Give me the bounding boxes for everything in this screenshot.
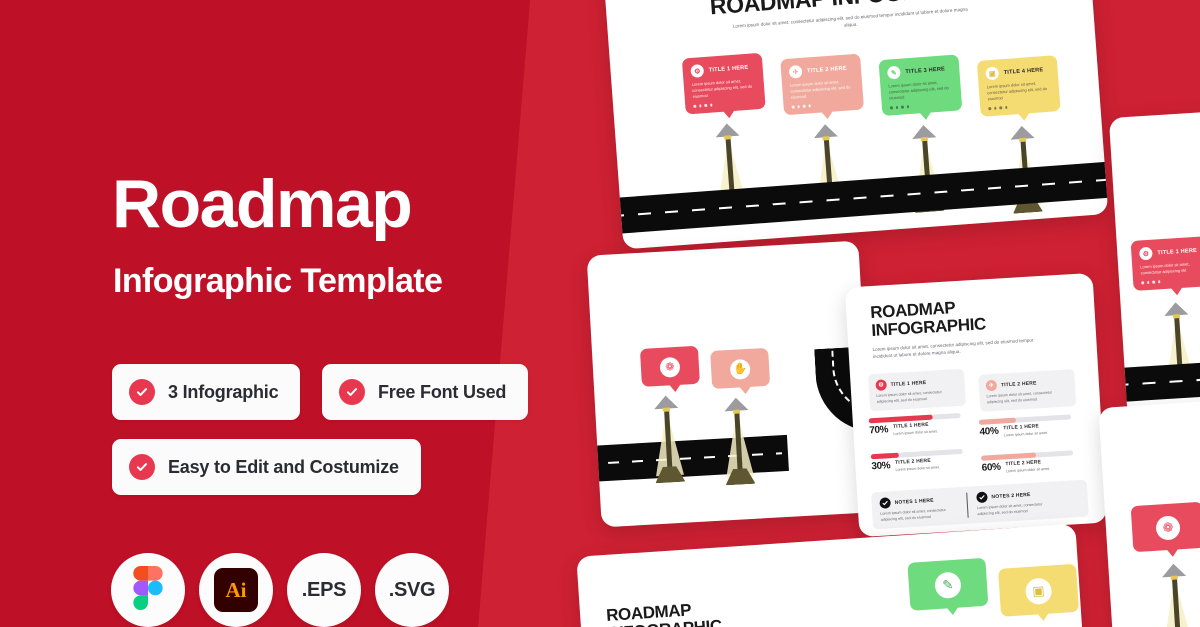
notes-box[interactable]: NOTES 1 HERE Lorem ipsum dolor sit amet,… [871, 480, 1089, 530]
feature-badge-label: Easy to Edit and Costumize [168, 457, 399, 478]
note-2: NOTES 2 HERE Lorem ipsum dolor sit amet,… [976, 488, 1055, 518]
stat-desc: Lorem ipsum dolor sit amet. [1006, 467, 1051, 474]
bubble-title-label: TITLE 3 HERE [905, 66, 945, 75]
page-title: Roadmap [112, 170, 411, 238]
bubble-icon-brain-right[interactable]: ❁ [1131, 502, 1200, 552]
svg-file-label: .SVG [389, 579, 436, 602]
bubble-dots [988, 103, 1052, 110]
bubble-icon-briefcase[interactable]: ▣ [998, 564, 1079, 617]
bubble-body: Lorem ipsum dolor sit amet, consectetur … [692, 77, 757, 100]
page-subtitle: Infographic Template [113, 263, 442, 300]
check-circle-icon [879, 497, 891, 509]
stat-title: TITLE 2 HERE [895, 457, 940, 466]
bubble-dots [693, 100, 757, 107]
pencil-icon: ✎ [887, 66, 901, 80]
note-divider [966, 493, 969, 518]
bubble-title-label: TITLE 2 HERE [807, 65, 847, 74]
note-body: Lorem ipsum dolor sit amet, consectetur … [880, 507, 959, 523]
preview-card-middle-right[interactable]: ROADMAP INFOGRAPHIC Lorem ipsum dolor si… [845, 273, 1107, 537]
format-badge-figma[interactable] [111, 553, 185, 627]
note-head: NOTES 2 HERE [976, 488, 1055, 504]
bubble-head: ✈ TITLE 2 HERE [789, 61, 854, 79]
bubble-title-1[interactable]: ⚙ TITLE 1 HERE Lorem ipsum dolor sit ame… [682, 53, 766, 114]
briefcase-icon: ▣ [985, 66, 999, 80]
feature-badge-label: Free Font Used [378, 382, 506, 403]
stat-desc: Lorem ipsum dolor sit amet. [1004, 431, 1049, 438]
rocket-icon: ✈ [789, 65, 803, 79]
bubble-title-label: TITLE 1 HERE [1157, 247, 1197, 255]
progress-fill [979, 418, 1016, 425]
stat-row-3: 40% TITLE 1 HERE Lorem ipsum dolor sit a… [979, 413, 1088, 438]
stat-title-card-1[interactable]: ⚙ TITLE 1 HERE Lorem ipsum dolor sit ame… [868, 369, 966, 412]
bubble-title-4[interactable]: ▣ TITLE 4 HERE Lorem ipsum dolor sit ame… [977, 55, 1061, 116]
stat-card-head: ✈ TITLE 2 HERE [986, 376, 1069, 392]
stat-percent: 70% [869, 424, 888, 436]
stat-percent: 40% [979, 426, 998, 438]
note-title: NOTES 2 HERE [991, 491, 1030, 499]
bubble-icon-hand[interactable]: ✋ [710, 348, 770, 389]
gear-icon: ⚙ [690, 64, 704, 78]
check-circle-icon [339, 379, 365, 405]
brain-icon: ❁ [659, 356, 680, 377]
bubble-head: ✎ TITLE 3 HERE [887, 62, 952, 80]
hand-icon: ✋ [730, 358, 751, 379]
stat-card-head: ⚙ TITLE 1 HERE [875, 375, 958, 391]
note-title: NOTES 1 HERE [894, 497, 933, 505]
bubble-dots [1141, 277, 1200, 284]
stat-card-title: TITLE 2 HERE [1001, 380, 1037, 388]
note-1: NOTES 1 HERE Lorem ipsum dolor sit amet,… [879, 493, 958, 523]
stat-row-4: 60% TITLE 2 HERE Lorem ipsum dolor sit a… [981, 449, 1090, 474]
stat-title: TITLE 1 HERE [893, 421, 938, 430]
bubble-body: Lorem ipsum dolor sit amet, consectetur … [987, 80, 1052, 103]
bubble-title-3[interactable]: ✎ TITLE 3 HERE Lorem ipsum dolor sit ame… [878, 54, 962, 115]
gear-icon: ⚙ [875, 379, 887, 391]
feature-badge-label: 3 Infographic [168, 382, 278, 403]
preview-card-right-lower[interactable]: ❁ [1098, 392, 1200, 627]
brain-icon: ❁ [1155, 515, 1180, 540]
format-badge-illustrator[interactable]: Ai [199, 553, 273, 627]
stat-title: TITLE 2 HERE [1005, 459, 1050, 468]
note-body: Lorem ipsum dolor sit amet, consectetur … [977, 501, 1056, 517]
preview-card-middle-left[interactable]: ❁ ✋ [587, 241, 874, 528]
bubble-body: Lorem ipsum dolor sit amet, consectetur … [888, 79, 953, 102]
bubble-body: Lorem ipsum dolor sit amet, consectetur … [1140, 260, 1200, 276]
stat-percent: 30% [871, 460, 890, 472]
bubble-head: ⚙ TITLE 1 HERE [690, 60, 755, 78]
stat-card-body: Lorem ipsum dolor sit amet, consectetur … [876, 389, 959, 405]
note-head: NOTES 1 HERE [879, 493, 958, 509]
feature-badge-free-font-used[interactable]: Free Font Used [322, 364, 528, 420]
bubble-title-right-upper[interactable]: ⚙ TITLE 1 HERE Lorem ipsum dolor sit ame… [1131, 236, 1200, 291]
format-badge-eps[interactable]: .EPS [287, 553, 361, 627]
bubble-icon-pencil[interactable]: ✎ [907, 558, 988, 611]
bubble-body: Lorem ipsum dolor sit amet, consectetur … [790, 78, 855, 101]
eps-file-label: .EPS [302, 579, 346, 602]
street-lamp [1156, 561, 1195, 627]
pencil-icon: ✎ [934, 571, 962, 599]
street-lamp [719, 395, 758, 483]
briefcase-icon: ▣ [1025, 577, 1053, 605]
stat-card-body: Lorem ipsum dolor sit amet, consectetur … [986, 390, 1069, 406]
bubble-title-2[interactable]: ✈ TITLE 2 HERE Lorem ipsum dolor sit ame… [780, 54, 864, 115]
rocket-icon: ✈ [986, 380, 998, 392]
bubble-head: ⚙ TITLE 1 HERE [1139, 243, 1200, 260]
bubble-title-label: TITLE 1 HERE [709, 64, 749, 73]
left-content-panel: Roadmap Infographic Template 3 Infograph… [0, 0, 530, 627]
bubble-head: ▣ TITLE 4 HERE [985, 63, 1050, 81]
preview-card-top[interactable]: ROADMAP INFOGRAPHIC Lorem ipsum dolor si… [602, 0, 1109, 249]
stat-percent: 60% [981, 462, 1000, 474]
gear-icon: ⚙ [1139, 247, 1153, 261]
check-circle-icon [976, 491, 988, 503]
figma-icon [133, 566, 163, 615]
format-badge-svg[interactable]: .SVG [375, 553, 449, 627]
adobe-illustrator-icon: Ai [214, 568, 258, 612]
stat-desc: Lorem ipsum dolor sit amet. [893, 429, 938, 436]
stat-desc: Lorem ipsum dolor sit amet. [895, 465, 940, 472]
stat-card-title: TITLE 1 HERE [890, 379, 926, 387]
bubble-dots [890, 102, 954, 109]
road-dashes [1116, 367, 1200, 387]
stat-row-1: 70% TITLE 1 HERE Lorem ipsum dolor sit a… [869, 412, 978, 437]
bubble-title-label: TITLE 4 HERE [1003, 67, 1043, 76]
bubble-icon-brain[interactable]: ❁ [640, 346, 700, 387]
stat-title-card-2[interactable]: ✈ TITLE 2 HERE Lorem ipsum dolor sit ame… [978, 369, 1076, 412]
progress-fill [871, 453, 899, 460]
check-circle-icon [129, 454, 155, 480]
stat-title: TITLE 1 HERE [1003, 423, 1048, 432]
bubble-dots [792, 101, 856, 108]
card-mr-subtitle: Lorem ipsum dolor sit amet, consectetur … [872, 335, 1053, 360]
check-circle-icon [129, 379, 155, 405]
street-lamp [648, 393, 687, 481]
stat-row-2: 30% TITLE 2 HERE Lorem ipsum dolor sit a… [871, 448, 980, 473]
feature-badge-easy-to-edit[interactable]: Easy to Edit and Costumize [112, 439, 421, 495]
feature-badge-3-infographic[interactable]: 3 Infographic [112, 364, 300, 420]
